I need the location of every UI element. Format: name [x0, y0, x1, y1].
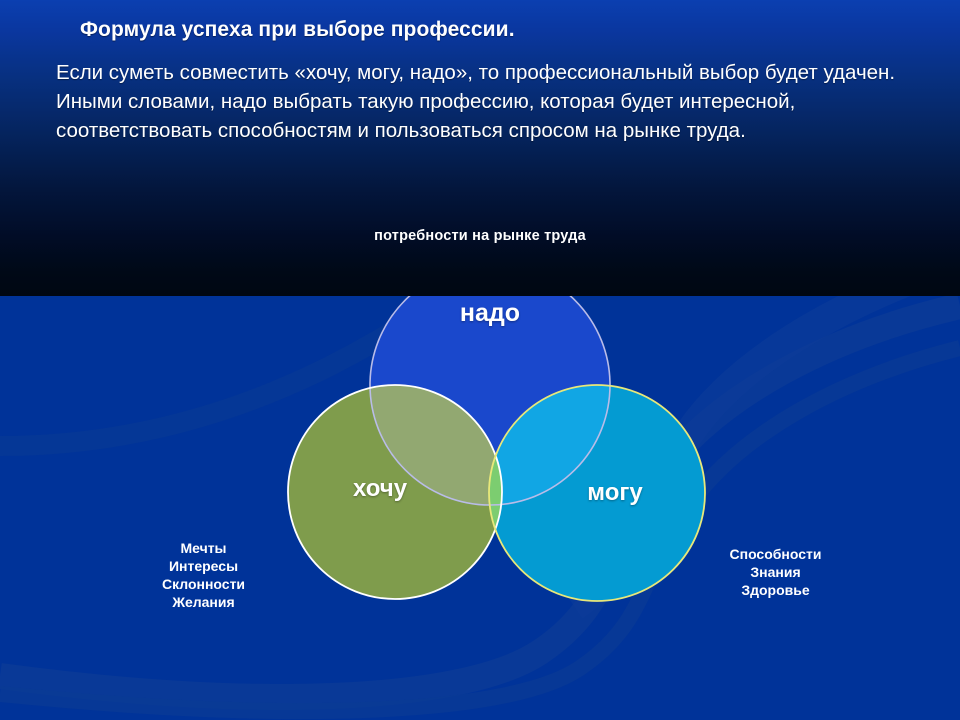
caption-right-line-3: Здоровье [668, 581, 883, 599]
venn-caption-right: Способности Знания Здоровье [668, 545, 883, 599]
venn-diagram: потребности на рынке труда Мечты Интерес… [0, 0, 960, 720]
caption-right-line-1: Способности [668, 545, 883, 563]
caption-left-line-1: Мечты [96, 539, 311, 557]
venn-caption-left: Мечты Интересы Склонности Желания [96, 539, 311, 611]
caption-left-line-3: Склонности [96, 575, 311, 593]
slide-canvas: Формула успеха при выборе профессии. Есл… [0, 0, 960, 720]
caption-left-line-4: Желания [96, 593, 311, 611]
venn-circles-graphic [0, 0, 960, 720]
venn-label-hochu: хочу [315, 475, 445, 503]
venn-caption-top: потребности на рынке труда [0, 228, 960, 244]
caption-right-line-2: Знания [668, 563, 883, 581]
venn-label-mogu: могу [550, 479, 680, 507]
venn-label-nado: надо [410, 299, 570, 328]
caption-left-line-2: Интересы [96, 557, 311, 575]
